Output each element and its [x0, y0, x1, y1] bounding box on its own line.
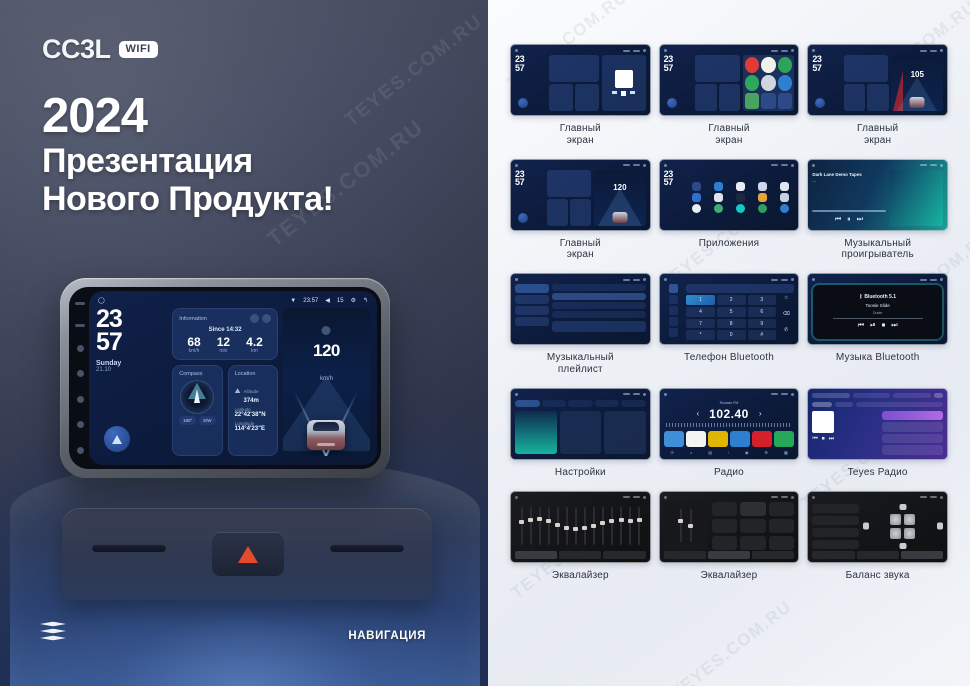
- hero-panel: TEYES.COM.RU TEYES.COM.RU TEYES.COM.RU T…: [0, 0, 488, 686]
- balance-readouts: [812, 504, 859, 549]
- navigation-button[interactable]: [104, 426, 130, 452]
- information-stats: 68 km/h 12 min 4.2: [179, 336, 271, 354]
- screen-body: 23 57 Sunday 21.10 Information: [96, 308, 370, 456]
- gallery-caption: Телефон Bluetooth: [684, 352, 774, 364]
- mini-status-bar: [664, 163, 795, 168]
- loc-icon[interactable]: ◉: [745, 450, 749, 456]
- back-arrow-icon[interactable]: ↰: [363, 297, 368, 304]
- equalizer-bottom-tabs[interactable]: [515, 551, 646, 559]
- tab-fader[interactable]: [708, 551, 750, 559]
- contacts-tab-icon[interactable]: [669, 295, 678, 304]
- status-icons: [623, 50, 630, 52]
- search-tab-icon[interactable]: [669, 306, 678, 315]
- home-circle-icon[interactable]: ◯: [98, 297, 105, 304]
- app-icon-google[interactable]: [692, 204, 701, 213]
- navigation-label: НАВИГАЦИЯ: [348, 630, 426, 642]
- mini-driving-view: 105: [891, 55, 943, 111]
- preset-station[interactable]: [752, 431, 772, 447]
- app-icon-gallery[interactable]: [780, 193, 789, 202]
- music-track-title: Dark Lane Demo Tapes: [812, 172, 885, 177]
- key-1[interactable]: 1: [686, 295, 715, 305]
- thumbnail-bluetooth-phone[interactable]: 123 456 789 *0# ☆ ⌫ ✆: [659, 273, 800, 345]
- car-3d-model: [307, 420, 345, 450]
- key-star[interactable]: *: [686, 330, 715, 340]
- fader-panel[interactable]: [664, 502, 795, 550]
- gallery-caption: Teyes Радио: [848, 467, 908, 479]
- app-icon-chrome[interactable]: [692, 193, 701, 202]
- widgets-column: Information Since 14:32: [172, 308, 278, 456]
- screenshot-gallery: TEYES.COM.RU TEYES.COM.RU TEYES.COM.RU T…: [488, 0, 970, 686]
- balance-front-button[interactable]: [899, 504, 906, 510]
- balance-bottom-tabs[interactable]: [812, 551, 943, 559]
- speed-value: 120: [283, 341, 370, 361]
- key-9[interactable]: 9: [748, 319, 777, 329]
- thumbnail-equalizer-fader[interactable]: [659, 491, 800, 563]
- mini-body: 2357 120: [515, 170, 646, 226]
- latitude-value: 22°42'38"N: [235, 412, 271, 418]
- gallery-caption: Главный экран: [857, 123, 898, 147]
- clock-date: 21.10: [96, 367, 167, 373]
- gallery-item[interactable]: 123 456 789 *0# ☆ ⌫ ✆: [659, 273, 800, 376]
- app-icon-keyboard[interactable]: [736, 182, 745, 191]
- mini-body: 2357 105: [812, 55, 943, 111]
- gallery-caption: Музыкальный проигрыватель: [841, 238, 913, 262]
- mini-status-bar: [515, 277, 646, 282]
- altitude-value: 374m: [243, 398, 258, 404]
- hero-year: 2024: [42, 92, 333, 142]
- station-row[interactable]: [882, 434, 943, 444]
- backspace-icon[interactable]: ⌫: [778, 311, 794, 325]
- home-circle-icon: [664, 49, 667, 52]
- mini-clock-minutes: 57: [515, 178, 544, 187]
- watermark: TEYES.COM.RU: [341, 10, 487, 131]
- equalizer-bottom-tabs[interactable]: [664, 551, 795, 559]
- fader-sliders[interactable]: [664, 502, 708, 550]
- app-icon-equalizer[interactable]: [736, 193, 745, 202]
- gallery-caption: Радио: [714, 467, 744, 479]
- bt-music-panel: ᛒBluetooth 5.1 Toosie Slide Drake ⏮⏯⏹⏭: [813, 285, 942, 339]
- altitude-row: ⛰ Altitude 374m: [235, 380, 271, 404]
- teyes-media-controls[interactable]: ⏮⏹⏭: [812, 436, 862, 443]
- prev-station-icon[interactable]: ‹: [696, 409, 699, 418]
- list-icon[interactable]: ▤: [708, 450, 712, 456]
- mini-status-bar: [812, 277, 943, 282]
- preset-station[interactable]: [664, 431, 684, 447]
- settings-tab-icon[interactable]: [669, 328, 678, 337]
- rail-volume-up-icon[interactable]: [77, 421, 84, 428]
- radio-presets[interactable]: [664, 431, 795, 447]
- key-8[interactable]: 8: [717, 319, 746, 329]
- preset-button[interactable]: [712, 519, 737, 533]
- stat-value: 12: [217, 336, 230, 348]
- next-icon[interactable]: ⏭: [891, 322, 897, 330]
- next-icon[interactable]: ⏭: [857, 216, 863, 224]
- gallery-item[interactable]: ⏮⏹⏭ Teyes Радио: [807, 388, 948, 479]
- layer-piece: [40, 622, 66, 627]
- app-icon-bluetooth[interactable]: [714, 182, 723, 191]
- thumbnail-app-drawer[interactable]: 2357: [659, 159, 800, 231]
- stat-item: 68 km/h: [187, 336, 200, 354]
- preset-button[interactable]: [769, 519, 794, 533]
- compass-heading: 180°: [179, 416, 196, 425]
- mini-widgets: [547, 170, 591, 226]
- app-icon-maps[interactable]: [714, 204, 723, 213]
- preset-station[interactable]: [774, 431, 794, 447]
- balance-left-button[interactable]: [863, 523, 869, 530]
- settings-card-more[interactable]: [604, 411, 646, 454]
- thumbnail-teyes-radio[interactable]: ⏮⏹⏭: [807, 388, 948, 460]
- layer-piece: [40, 636, 66, 641]
- hazard-light-button[interactable]: [212, 532, 284, 576]
- tab-eq[interactable]: [515, 551, 557, 559]
- mini-status-bar: [515, 392, 646, 397]
- mini-widgets: [695, 55, 739, 111]
- radio-toolbar[interactable]: ⦿⌕▤⫶◉⚙▦: [664, 450, 795, 456]
- rail-back-icon[interactable]: [75, 302, 85, 305]
- radio-band: Russian FM: [660, 401, 799, 405]
- key-hash[interactable]: #: [748, 330, 777, 340]
- home-circle-icon: [515, 49, 518, 52]
- phone-tabs[interactable]: [664, 284, 684, 340]
- clock-day: Sunday: [96, 360, 167, 367]
- rail-menu-icon[interactable]: [75, 324, 85, 327]
- call-icon[interactable]: ✆: [778, 327, 794, 341]
- album-art: [812, 411, 834, 433]
- hero-title-line1: Презентация: [42, 142, 333, 180]
- mini-status-bar: [515, 163, 646, 168]
- previous-icon[interactable]: ⏮: [835, 216, 841, 224]
- logo-model-text: CC3L: [42, 34, 111, 65]
- gallery-caption: Главный экран: [560, 238, 601, 262]
- rail-power-icon[interactable]: [77, 345, 84, 352]
- call-log-tab-icon[interactable]: [669, 317, 678, 326]
- gallery-caption: Главный экран: [708, 123, 749, 147]
- altitude-label: Altitude: [243, 389, 258, 394]
- preset-button[interactable]: [712, 536, 737, 550]
- equalizer-band-sliders[interactable]: [515, 503, 646, 549]
- preset-button[interactable]: [740, 536, 765, 550]
- navigation-button: [518, 98, 528, 108]
- mini-clock-minutes: 57: [515, 64, 546, 73]
- gallery-item[interactable]: Russian FM ‹ 102.40 ›: [659, 388, 800, 479]
- preset-button[interactable]: [769, 536, 794, 550]
- thumbnail-playlist[interactable]: [510, 273, 651, 345]
- band-button[interactable]: ⦿: [670, 450, 674, 456]
- mini-status-bar: [812, 163, 943, 168]
- key-5[interactable]: 5: [717, 307, 746, 317]
- gallery-item[interactable]: 2357 Главный экран: [659, 44, 800, 147]
- bt-track-artist: Drake: [873, 311, 882, 315]
- favorite-icon[interactable]: ☆: [778, 295, 794, 309]
- bt-media-controls[interactable]: ⏮⏯⏹⏭: [858, 322, 898, 330]
- playlist-rows[interactable]: [552, 284, 646, 340]
- information-since: Since 14:32: [179, 327, 271, 333]
- mini-status-bar: [515, 48, 646, 53]
- stop-icon[interactable]: ⏹: [882, 322, 886, 330]
- tab-balance[interactable]: [901, 551, 943, 559]
- play-pause-icon[interactable]: ⏯: [870, 322, 876, 330]
- mini-status-bar: [812, 495, 943, 500]
- gallery-item[interactable]: 2357 120 Главный экран: [510, 159, 651, 262]
- app-icon-calculator[interactable]: [758, 182, 767, 191]
- settings-card-wifi[interactable]: [515, 411, 557, 454]
- compass-readouts: 180° S/W: [179, 416, 215, 425]
- rail-volume-down-icon[interactable]: [77, 447, 84, 454]
- longitude-row: Longitude 114°4'23"E: [235, 421, 271, 432]
- stat-item: 4.2 km: [246, 336, 263, 354]
- settings-tab-display[interactable]: [568, 400, 593, 407]
- tab-balance[interactable]: [603, 551, 645, 559]
- navigation-arrow-icon: [112, 435, 122, 444]
- settings-tab-system[interactable]: [621, 400, 646, 407]
- mini-app-shortcuts: [743, 55, 795, 111]
- tab-fader[interactable]: [559, 551, 601, 559]
- gear-icon[interactable]: ⚙: [351, 297, 356, 304]
- thumbnail-radio[interactable]: Russian FM ‹ 102.40 ›: [659, 388, 800, 460]
- grid-icon[interactable]: ▦: [784, 450, 788, 456]
- tab-fader[interactable]: [857, 551, 899, 559]
- information-card-header: Information: [179, 314, 271, 323]
- gallery-item[interactable]: Эквалайзер: [659, 491, 800, 582]
- mini-body: [515, 284, 646, 340]
- app-icon-camera[interactable]: [780, 182, 789, 191]
- location-card[interactable]: Location ⛰ Altitude 374m: [228, 365, 278, 456]
- status-clock: 23:57: [303, 298, 318, 304]
- gallery-item[interactable]: Dark Lane Demo Tapes — ⏮ ⏸ ⏭: [807, 159, 948, 262]
- compass-needle-icon: [194, 389, 200, 403]
- compass-card[interactable]: Compass 180° S/W: [172, 365, 222, 456]
- speaker-grid: [890, 514, 915, 539]
- gallery-item[interactable]: 2357 105 Главный экран: [807, 44, 948, 147]
- eq-icon[interactable]: ⫶: [728, 450, 729, 456]
- app-icon[interactable]: [692, 182, 701, 191]
- dialpad-keys[interactable]: 123 456 789 *0#: [686, 295, 776, 340]
- teyes-radio-topbar[interactable]: [812, 393, 943, 398]
- key-6[interactable]: 6: [748, 307, 777, 317]
- widget-row: Compass 180° S/W: [172, 365, 278, 456]
- latitude-row: Latitude 22°42'38"N: [235, 407, 271, 418]
- gallery-item[interactable]: Баланс звука: [807, 491, 948, 582]
- tab-eq[interactable]: [664, 551, 706, 559]
- app-icon-playstore[interactable]: [758, 204, 767, 213]
- next-station-icon[interactable]: ›: [759, 409, 762, 418]
- longitude-value: 114°4'23"E: [235, 426, 271, 432]
- settings-card-data[interactable]: [560, 411, 602, 454]
- gallery-caption: Настройки: [555, 467, 606, 479]
- station-row[interactable]: [882, 411, 943, 421]
- driving-view-card[interactable]: 120 km/h: [283, 308, 370, 456]
- mountain-icon: ⛰: [235, 388, 241, 396]
- settings-icon[interactable]: ⚙: [764, 450, 768, 456]
- hero-title-block: 2024 Презентация Нового Продукта!: [42, 92, 333, 219]
- bt-version-badge: Bluetooth 5.1: [864, 294, 896, 300]
- gallery-caption: Главный экран: [560, 123, 601, 147]
- location-title: Location: [235, 371, 271, 377]
- preset-station[interactable]: [708, 431, 728, 447]
- thumbnail-sound-balance[interactable]: [807, 491, 948, 563]
- rail-home-icon[interactable]: [77, 370, 84, 377]
- information-card[interactable]: Information Since 14:32: [172, 308, 278, 360]
- stat-unit: km/h: [187, 348, 200, 354]
- previous-icon[interactable]: ⏮: [812, 436, 817, 443]
- hazard-triangle-icon: [238, 546, 258, 563]
- mini-clock: 2357: [812, 55, 841, 111]
- gallery-caption: Баланс звука: [846, 570, 910, 582]
- gallery-caption: Эквалайзер: [701, 570, 758, 582]
- speed-icon: [322, 326, 331, 335]
- mini-body: 2357: [664, 55, 795, 111]
- car-dashboard-illustration: ◯ ▼ 23:57 ◀ 15 ⚙ ↰: [0, 258, 488, 686]
- gallery-item[interactable]: 2357 Главный экран: [510, 44, 651, 147]
- compass-direction: S/W: [199, 416, 216, 425]
- volume-icon: ◀: [325, 297, 330, 304]
- mini-widgets: [549, 55, 599, 111]
- mini-clock: 2357: [515, 55, 546, 111]
- teyes-radio-filters[interactable]: [812, 402, 943, 407]
- media-controls[interactable]: ⏮ ⏸ ⏭: [812, 216, 885, 224]
- clock-minutes: 57: [96, 331, 167, 354]
- radio-frequency: 102.40: [709, 407, 749, 421]
- mini-clock: 2357: [515, 170, 544, 226]
- layers-icon[interactable]: [40, 620, 66, 642]
- wifi-icon: ▼: [290, 298, 296, 304]
- pause-icon[interactable]: ⏸: [847, 216, 851, 224]
- settings-tab-sound[interactable]: [542, 400, 567, 407]
- preset-button-active[interactable]: [740, 502, 765, 516]
- thumbnail-home-media[interactable]: 2357: [510, 44, 651, 116]
- hero-title-line2: Нового Продукта!: [42, 180, 333, 218]
- previous-icon[interactable]: ⏮: [858, 322, 864, 330]
- scan-icon[interactable]: ⌕: [690, 450, 692, 456]
- mini-status-bar: [664, 277, 795, 282]
- key-0[interactable]: 0: [717, 330, 746, 340]
- rail-return-icon[interactable]: [77, 396, 84, 403]
- key-3[interactable]: 3: [748, 295, 777, 305]
- preset-buttons[interactable]: [712, 502, 794, 550]
- gallery-item[interactable]: ᛒBluetooth 5.1 Toosie Slide Drake ⏮⏯⏹⏭ М…: [807, 273, 948, 376]
- key-2[interactable]: 2: [717, 295, 746, 305]
- expand-icon[interactable]: [262, 314, 271, 323]
- thumbnail-home-drive-105[interactable]: 2357 105: [807, 44, 948, 116]
- teyes-radio-player: ⏮⏹⏭: [812, 411, 862, 455]
- app-icon-clock[interactable]: [714, 193, 723, 202]
- radio-tuner[interactable]: ‹ 102.40 ›: [660, 407, 799, 421]
- settings-tab-apps[interactable]: [595, 400, 620, 407]
- gallery-item[interactable]: Настройки: [510, 388, 651, 479]
- mini-body: 123 456 789 *0# ☆ ⌫ ✆: [664, 284, 795, 340]
- gear-icon: [643, 49, 646, 52]
- status-bar-right: ▼ 23:57 ◀ 15 ⚙ ↰: [290, 297, 368, 304]
- settings-tab-wifi[interactable]: [515, 400, 540, 407]
- information-title: Information: [179, 316, 207, 322]
- product-logo: CC3L WIFI: [42, 34, 158, 65]
- preset-button[interactable]: [740, 519, 765, 533]
- thumbnail-home-apps[interactable]: 2357: [659, 44, 800, 116]
- thumbnail-music-player[interactable]: Dark Lane Demo Tapes — ⏮ ⏸ ⏭: [807, 159, 948, 231]
- layer-piece: [40, 629, 66, 634]
- tab-balance[interactable]: [752, 551, 794, 559]
- mini-clock-minutes: 57: [812, 64, 841, 73]
- playlist-sidebar[interactable]: [515, 284, 549, 340]
- gallery-caption: Музыка Bluetooth: [836, 352, 920, 364]
- speed-unit: km/h: [283, 376, 370, 382]
- head-unit-inner: ◯ ▼ 23:57 ◀ 15 ⚙ ↰: [69, 287, 381, 469]
- gallery-caption: Приложения: [699, 238, 760, 250]
- key-7[interactable]: 7: [686, 319, 715, 329]
- bt-track-title: Toosie Slide: [866, 303, 890, 308]
- app-icon-filemanager[interactable]: [758, 193, 767, 202]
- teyes-radio-list[interactable]: [882, 411, 943, 455]
- mini-speed-value: 105: [891, 70, 943, 79]
- gallery-item[interactable]: Эквалайзер: [510, 491, 651, 582]
- head-unit-screen[interactable]: ◯ ▼ 23:57 ◀ 15 ⚙ ↰: [89, 291, 377, 465]
- settings-tabs[interactable]: [515, 400, 646, 407]
- key-4[interactable]: 4: [686, 307, 715, 317]
- watermark: TEYES.COM.RU: [667, 597, 795, 686]
- speaker-icon: [890, 528, 901, 539]
- next-icon[interactable]: ⏭: [829, 436, 834, 443]
- volume-level: 15: [337, 298, 344, 304]
- stop-icon[interactable]: ⏹: [822, 436, 825, 443]
- mini-driving-view: 120: [594, 170, 646, 226]
- settings-cards[interactable]: [515, 411, 646, 454]
- app-icon-radio[interactable]: [780, 204, 789, 213]
- mini-status-bar: [812, 48, 943, 53]
- gallery-item[interactable]: 2357: [659, 159, 800, 262]
- status-bar: ◯ ▼ 23:57 ◀ 15 ⚙ ↰: [96, 297, 370, 304]
- stat-value: 68: [187, 336, 200, 348]
- gallery-item[interactable]: Музыкальный плейлист: [510, 273, 651, 376]
- speaker-icon: [904, 528, 915, 539]
- logo-wifi-badge: WIFI: [119, 41, 158, 58]
- balance-right-button[interactable]: [937, 523, 943, 530]
- refresh-icon[interactable]: [250, 314, 259, 323]
- head-unit-side-rail[interactable]: [71, 293, 89, 463]
- mini-clock-minutes: 57: [664, 64, 693, 73]
- mini-clock-minutes: 57: [664, 178, 683, 187]
- speaker-icon: [904, 514, 915, 525]
- thumbnail-home-drive-120[interactable]: 2357 120: [510, 159, 651, 231]
- app-icon-music[interactable]: [736, 204, 745, 213]
- preset-station[interactable]: [686, 431, 706, 447]
- preset-button[interactable]: [769, 502, 794, 516]
- app-icon-grid[interactable]: [686, 170, 794, 226]
- balance-rear-button[interactable]: [899, 543, 906, 549]
- mini-body: 2357: [664, 170, 795, 226]
- clock-widget: 23 57 Sunday 21.10: [96, 308, 167, 456]
- dialpad-tab-icon[interactable]: [669, 284, 678, 293]
- mini-media-player: [602, 55, 646, 111]
- thumbnail-bluetooth-music[interactable]: ᛒBluetooth 5.1 Toosie Slide Drake ⏮⏯⏹⏭: [807, 273, 948, 345]
- bluetooth-icon: ᛒ: [859, 294, 862, 300]
- station-row[interactable]: [882, 422, 943, 432]
- preset-station[interactable]: [730, 431, 750, 447]
- tab-eq[interactable]: [812, 551, 854, 559]
- mini-body: Dark Lane Demo Tapes — ⏮ ⏸ ⏭: [812, 170, 943, 226]
- gallery-grid: 2357 Главный экран 2357: [510, 44, 948, 589]
- status-icons: [633, 50, 640, 52]
- preset-button[interactable]: [712, 502, 737, 516]
- station-row[interactable]: [882, 445, 943, 455]
- thumbnail-settings[interactable]: [510, 388, 651, 460]
- mini-status-bar: [664, 48, 795, 53]
- compass-rose: [180, 380, 214, 414]
- mini-status-bar: [664, 392, 795, 397]
- radio-dial-scale: [666, 423, 793, 427]
- gallery-caption: Эквалайзер: [552, 570, 609, 582]
- balance-pad[interactable]: [863, 504, 943, 549]
- thumbnail-equalizer-bands[interactable]: [510, 491, 651, 563]
